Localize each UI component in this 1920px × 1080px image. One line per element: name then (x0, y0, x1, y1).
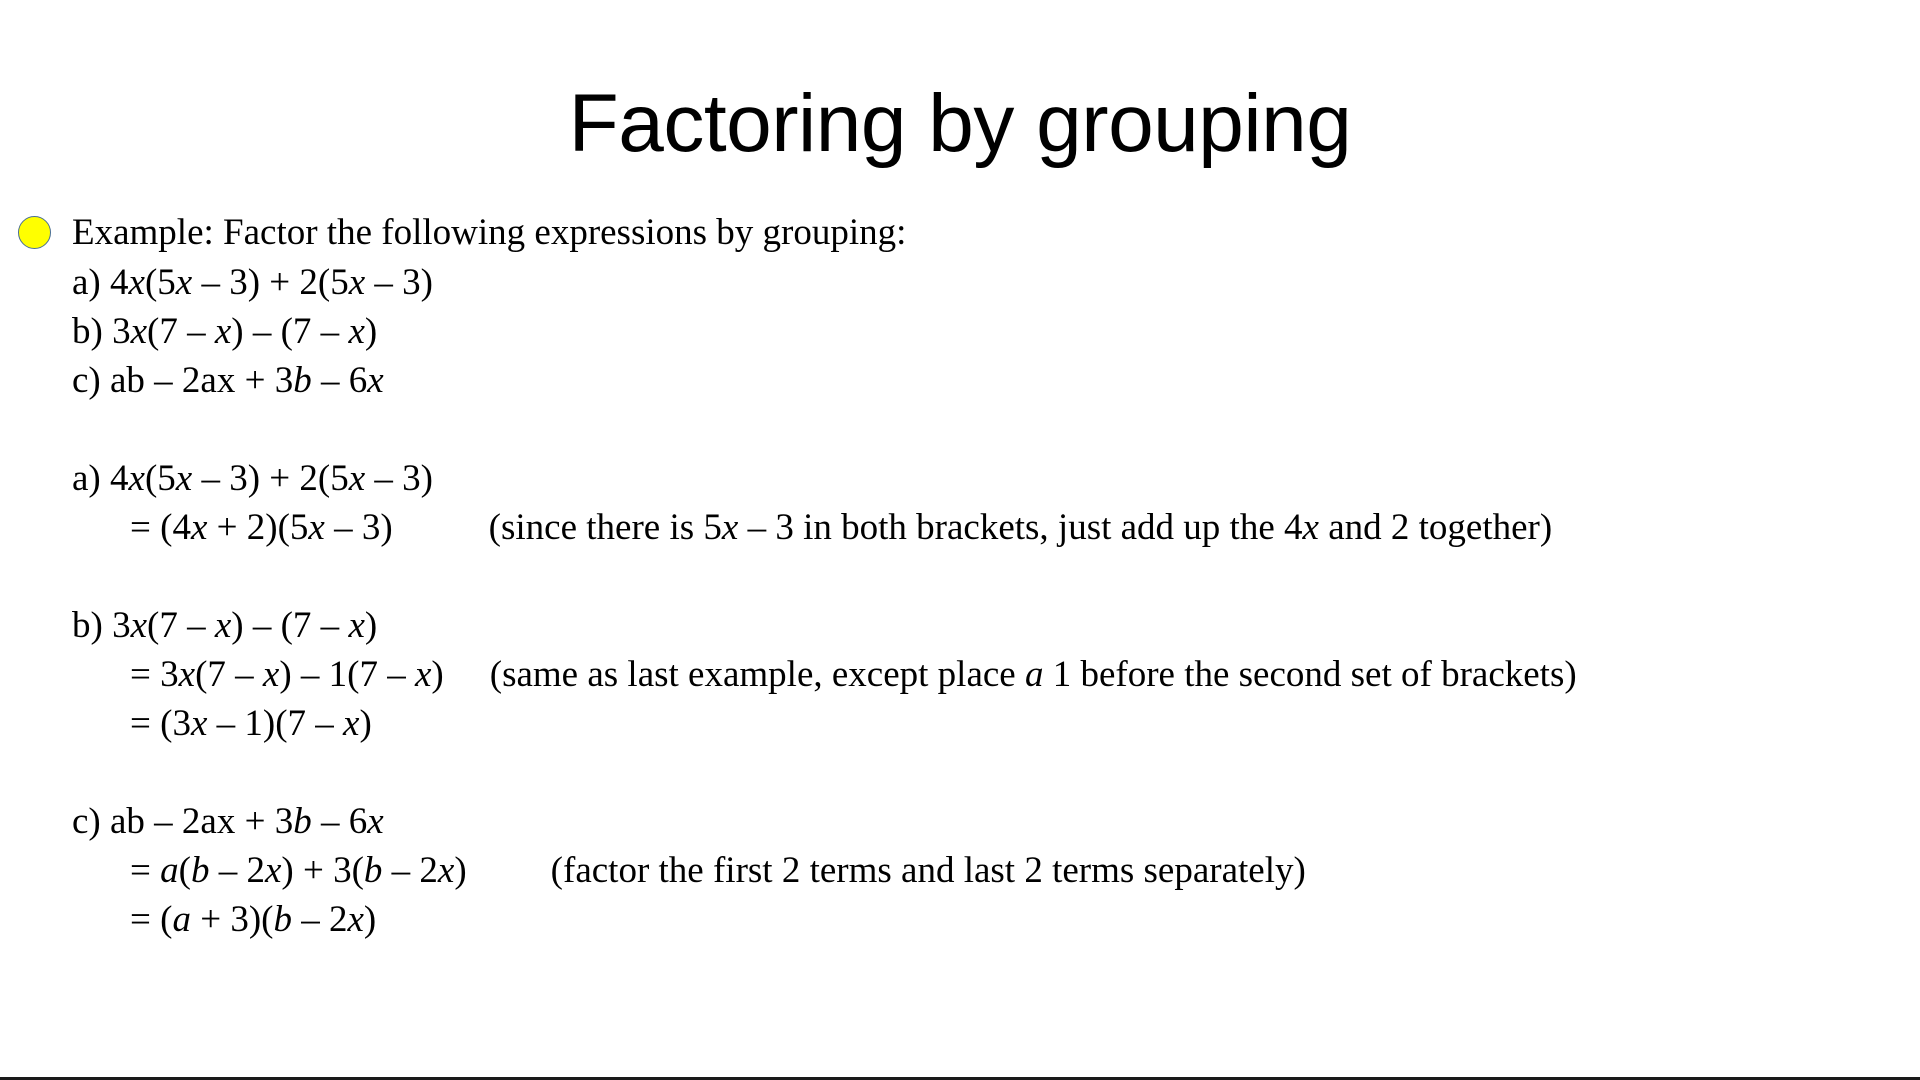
solution-c-given: c) ab – 2ax + 3b – 6x (18, 797, 1908, 846)
solution-c-step-2: = (a + 3)(b – 2x) (18, 895, 1908, 944)
solution-b-step-1: = 3x(7 – x) – 1(7 – x)(same as last exam… (18, 650, 1908, 699)
solution-a-step-1-comment: (since there is 5x – 3 in both brackets,… (489, 503, 1553, 552)
gap-1 (18, 405, 1908, 454)
solution-a-step-1: = (4x + 2)(5x – 3)(since there is 5x – 3… (18, 503, 1908, 552)
gap-2 (18, 552, 1908, 601)
solution-b-step-2: = (3x – 1)(7 – x) (18, 699, 1908, 748)
problem-item-b: b) 3x(7 – x) – (7 – x) (18, 307, 1908, 356)
slide-body: Example: Factor the following expression… (18, 208, 1908, 944)
solution-c-expression: ab – 2ax + 3b – 6x (110, 801, 384, 842)
problem-a-expression: 4x(5x – 3) + 2(5x – 3) (110, 262, 433, 303)
solution-c-step-1-equation: = a(b – 2x) + 3(b – 2x) (130, 846, 467, 895)
example-prompt-text: Example: Factor the following expression… (72, 208, 1908, 257)
problem-item-c: c) ab – 2ax + 3b – 6x (18, 356, 1908, 405)
solution-b-expression: 3x(7 – x) – (7 – x) (112, 605, 377, 646)
solution-c-step-2-equation: = (a + 3)(b – 2x) (130, 895, 376, 944)
solution-a-label: a) (72, 458, 101, 499)
problem-item-a: a) 4x(5x – 3) + 2(5x – 3) (18, 258, 1908, 307)
slide-canvas: Factoring by grouping Example: Factor th… (0, 0, 1920, 1080)
problem-c-label: c) (72, 360, 101, 401)
filled-circle-bullet-icon (18, 216, 51, 249)
gap-3 (18, 748, 1908, 797)
solution-b-step-1-comment: (same as last example, except place a 1 … (490, 650, 1577, 699)
problem-b-expression: 3x(7 – x) – (7 – x) (112, 311, 377, 352)
solution-a-given: a) 4x(5x – 3) + 2(5x – 3) (18, 454, 1908, 503)
problem-b-label: b) (72, 311, 103, 352)
problem-a-label: a) (72, 262, 101, 303)
solution-c-step-1: = a(b – 2x) + 3(b – 2x)(factor the first… (18, 846, 1908, 895)
solution-b-given: b) 3x(7 – x) – (7 – x) (18, 601, 1908, 650)
solution-a-expression: 4x(5x – 3) + 2(5x – 3) (110, 458, 433, 499)
solution-b-step-1-equation: = 3x(7 – x) – 1(7 – x) (130, 650, 444, 699)
solution-c-step-1-comment: (factor the first 2 terms and last 2 ter… (551, 846, 1306, 895)
example-prompt-row: Example: Factor the following expression… (18, 208, 1908, 258)
solution-b-step-2-equation: = (3x – 1)(7 – x) (130, 699, 372, 748)
solution-c-label: c) (72, 801, 101, 842)
title-block: Factoring by grouping (0, 78, 1920, 170)
page-title: Factoring by grouping (0, 78, 1920, 170)
problem-c-expression: ab – 2ax + 3b – 6x (110, 360, 384, 401)
solution-b-label: b) (72, 605, 103, 646)
solution-a-step-1-equation: = (4x + 2)(5x – 3) (130, 503, 393, 552)
